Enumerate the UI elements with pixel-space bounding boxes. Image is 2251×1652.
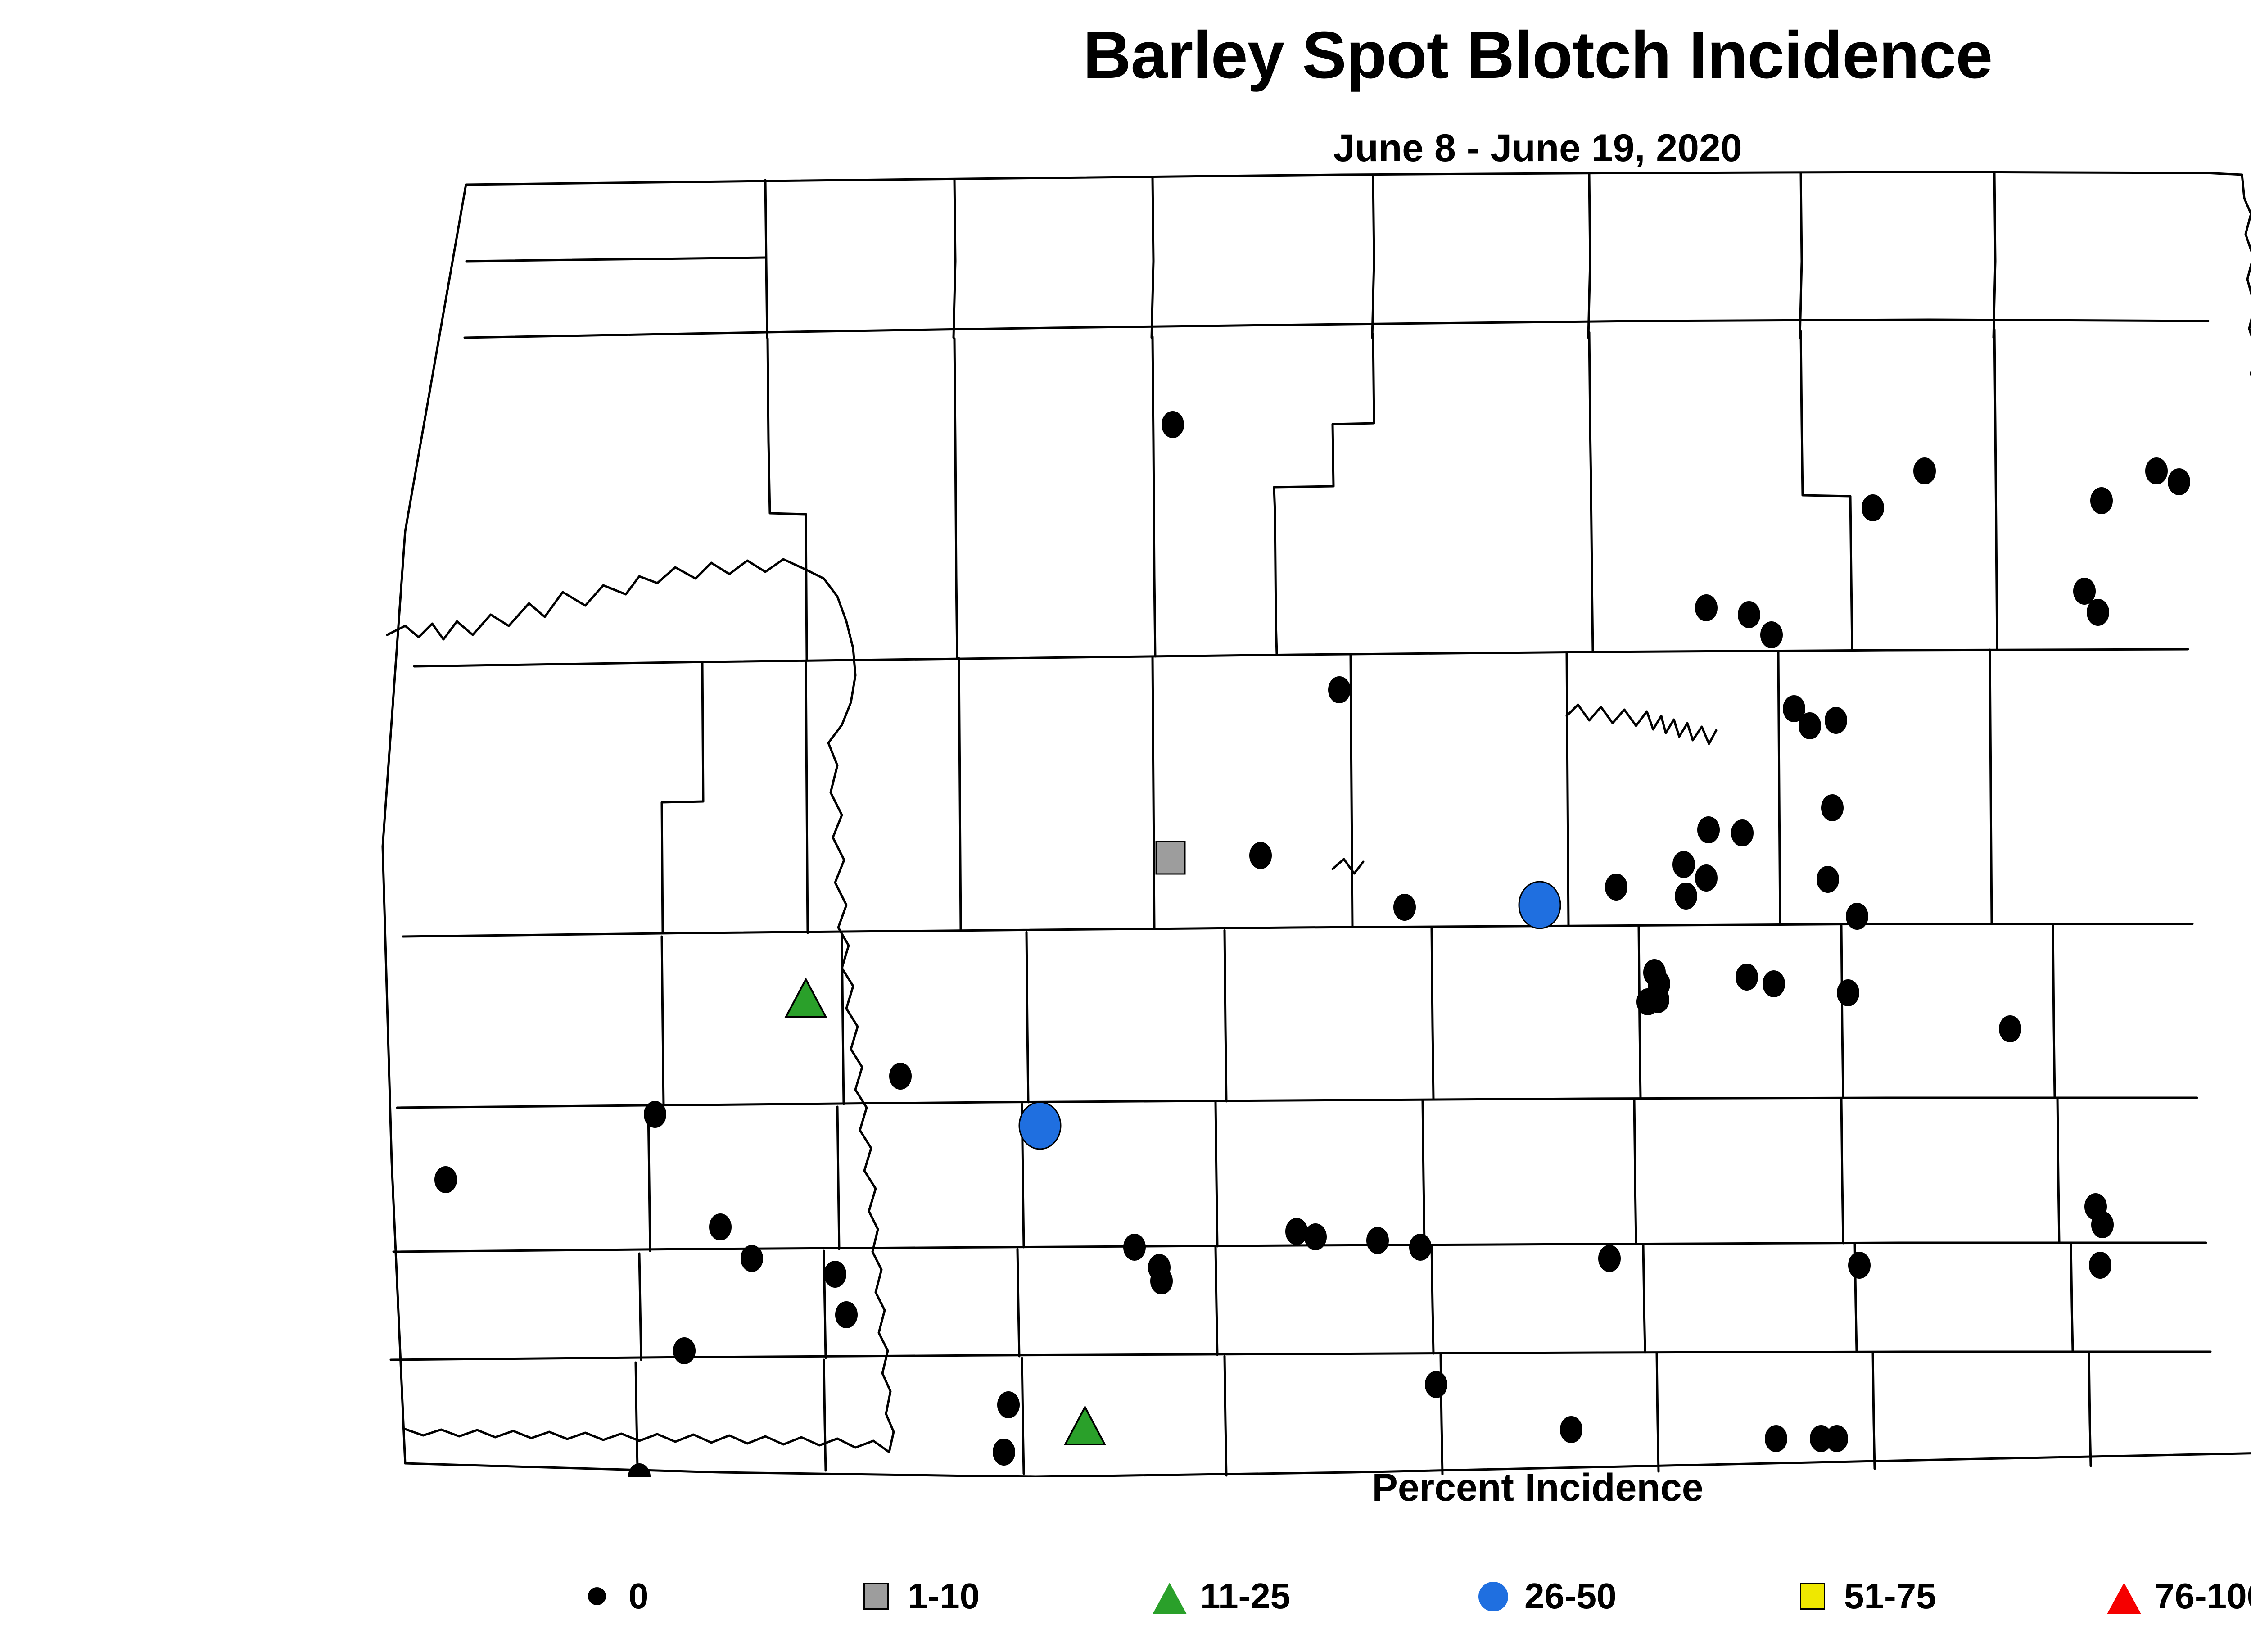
incidence-marker-0	[2089, 1252, 2111, 1278]
incidence-marker-0	[710, 1214, 731, 1240]
incidence-marker-0	[2087, 599, 2109, 625]
legend-swatch	[1478, 1582, 1508, 1611]
legend-item-label: 1-10	[908, 1578, 980, 1614]
legend-title: Percent Incidence	[0, 1466, 2251, 1510]
north-dakota-county-map	[0, 171, 2251, 1477]
incidence-marker-0	[1162, 412, 1184, 438]
legend-swatch	[863, 1583, 889, 1610]
incidence-marker-0	[2168, 469, 2190, 495]
incidence-marker-0	[1914, 458, 1935, 484]
incidence-marker-0	[1605, 874, 1627, 900]
incidence-marker-0	[1599, 1245, 1620, 1272]
incidence-marker-0	[1637, 989, 1659, 1015]
incidence-marker-0	[2091, 488, 2112, 514]
incidence-marker-0	[1394, 894, 1415, 920]
legend-item-11-25[interactable]: 11-25	[1153, 1556, 1290, 1637]
incidence-marker-0	[435, 1167, 457, 1193]
incidence-marker-0	[1731, 820, 1753, 846]
incidence-marker-0	[1329, 677, 1350, 703]
blue-circle-icon	[1477, 1580, 1509, 1612]
legend-item-label: 76-100	[2155, 1578, 2251, 1614]
incidence-marker-0	[998, 1392, 1019, 1418]
incidence-marker-0	[1425, 1371, 1447, 1398]
incidence-marker-0	[1817, 866, 1839, 892]
legend-swatch	[1800, 1583, 1825, 1610]
incidence-marker-0	[1825, 707, 1847, 733]
incidence-marker-0	[1826, 1426, 1848, 1452]
incidence-marker-0	[1822, 795, 1843, 821]
legend-item-label: 26-50	[1524, 1578, 1617, 1614]
incidence-marker-1-10	[1156, 842, 1185, 874]
legend-item-26-50[interactable]: 26-50	[1477, 1556, 1617, 1637]
incidence-marker-26-50	[1519, 882, 1560, 928]
county-boundaries	[383, 172, 2251, 1477]
incidence-marker-0	[1673, 851, 1695, 878]
incidence-marker-0	[1738, 602, 1760, 628]
incidence-marker-0	[890, 1063, 911, 1089]
incidence-marker-0	[1846, 903, 1868, 929]
legend-item-51-75[interactable]: 51-75	[1796, 1556, 1936, 1637]
incidence-marker-0	[1698, 817, 1719, 843]
legend: 01-1011-2526-5051-7576-100	[581, 1556, 2251, 1646]
legend-item-label: 0	[628, 1578, 649, 1614]
incidence-marker-0	[1695, 865, 1717, 891]
map-container	[0, 171, 2251, 1477]
green-triangle-icon	[1153, 1580, 1185, 1612]
incidence-marker-0	[824, 1261, 846, 1287]
legend-item-label: 51-75	[1844, 1578, 1936, 1614]
incidence-marker-0	[1151, 1268, 1172, 1294]
incidence-marker-0	[1250, 842, 1271, 869]
map-page: Barley Spot Blotch Incidence June 8 - Ju…	[0, 0, 2251, 1652]
legend-swatch	[1153, 1583, 1187, 1614]
incidence-marker-0	[1736, 964, 1758, 990]
incidence-marker-0	[1763, 971, 1785, 997]
incidence-marker-0	[1999, 1016, 2021, 1042]
incidence-marker-0	[1765, 1426, 1787, 1452]
incidence-marker-0	[1799, 713, 1821, 739]
incidence-marker-0	[836, 1302, 857, 1328]
legend-item-label: 11-25	[1200, 1578, 1290, 1614]
incidence-marker-26-50	[1019, 1102, 1061, 1149]
incidence-marker-0	[2092, 1212, 2113, 1238]
incidence-marker-0	[644, 1101, 666, 1127]
incidence-marker-0	[741, 1245, 763, 1272]
incidence-marker-0	[1761, 622, 1782, 648]
small-black-circle-icon	[581, 1580, 613, 1612]
page-title: Barley Spot Blotch Incidence	[0, 17, 2251, 94]
legend-swatch	[588, 1587, 606, 1605]
incidence-marker-0	[1286, 1218, 1307, 1245]
incidence-marker-0	[1410, 1234, 1431, 1260]
legend-item-1-10[interactable]: 1-10	[860, 1556, 980, 1637]
incidence-marker-0	[1675, 883, 1697, 909]
incidence-marker-0	[1849, 1252, 1870, 1278]
page-subtitle: June 8 - June 19, 2020	[0, 126, 2251, 171]
incidence-marker-0	[1560, 1417, 1582, 1443]
incidence-marker-0	[1695, 595, 1717, 621]
incidence-marker-0	[993, 1439, 1015, 1465]
incidence-marker-0	[2074, 578, 2095, 604]
incidence-marker-0	[2146, 458, 2167, 484]
incidence-marker-0	[1367, 1227, 1388, 1254]
incidence-marker-0	[1305, 1224, 1326, 1250]
incidence-marker-0	[1837, 980, 1859, 1006]
legend-item-76-100[interactable]: 76-100	[2107, 1556, 2251, 1637]
red-triangle-icon	[2107, 1580, 2139, 1612]
incidence-marker-0	[1862, 495, 1884, 521]
legend-item-0[interactable]: 0	[581, 1556, 649, 1637]
gray-square-icon	[860, 1580, 892, 1612]
incidence-marker-0	[673, 1338, 695, 1364]
yellow-square-icon	[1796, 1580, 1829, 1612]
legend-swatch	[2107, 1583, 2141, 1614]
incidence-marker-0	[1124, 1234, 1145, 1260]
